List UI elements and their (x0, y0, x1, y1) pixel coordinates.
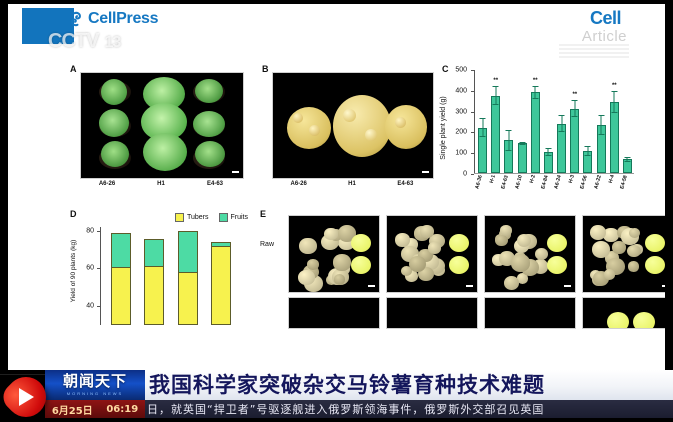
panel-c-significance-marker: ** (612, 83, 617, 89)
panel-e: E Raw (260, 209, 665, 329)
legend-label-fruits: Fruits (231, 214, 249, 221)
panel-c-tick: 200 (471, 132, 474, 133)
panel-d-legend: Tubers Fruits (175, 213, 248, 222)
legend-swatch-tubers (175, 213, 184, 222)
date-time-box: 6月25日 06:19 (45, 400, 145, 418)
news-ticker-text: 日，就英国“捍卫者”号驱逐舰进入俄罗斯领海事件，俄罗斯外交部召见英国 (145, 401, 544, 417)
program-logo: 朝闻天下 MORNING NEWS (45, 370, 145, 400)
panel-c-error-bar (587, 146, 588, 156)
panel-a-letter: A (70, 64, 77, 74)
potato-tuber (511, 254, 530, 271)
panel-c-tick-label: 100 (455, 150, 467, 157)
panel-d-tick-label: 80 (86, 227, 94, 234)
potato-tuber (428, 242, 440, 253)
panel-d-y-axis-label: Yield of 90 plants (kg) (70, 229, 77, 313)
program-name: 朝闻天下 (63, 374, 127, 389)
potato-tuber (324, 228, 337, 240)
panel-c-bar-group (595, 70, 608, 173)
panel-c-bar-group: ** (608, 70, 621, 173)
journal-blue-block (22, 8, 74, 44)
panel-d-bar-group (205, 227, 239, 325)
panel-c-error-bar (495, 86, 496, 104)
panel-d-segment-fruits (112, 234, 130, 268)
panel-c-error-bar (522, 142, 523, 145)
panel-c-bar (531, 92, 540, 173)
potato-tuber (409, 256, 426, 272)
panel-d-chart: D Yield of 90 plants (kg) Tubers Fruits … (70, 209, 250, 334)
panel-d-segment-tubers (179, 273, 197, 324)
potato-slice (645, 256, 665, 274)
panel-c-bar-group (516, 70, 529, 173)
panel-e-image-row-second (288, 297, 665, 329)
panel-c-error-bar (508, 130, 509, 150)
cellpress-logo-icon (68, 11, 84, 27)
panel-c-bar-group (555, 70, 568, 173)
scale-bar-icon (564, 285, 571, 287)
panel-c-error-bar (482, 118, 483, 137)
panel-c-tick: 300 (471, 112, 474, 113)
potato-slice (547, 256, 567, 274)
potato-tuber (395, 233, 410, 247)
panel-c-bar-group (476, 70, 489, 173)
panel-c-bar-group (621, 70, 634, 173)
panel-b-captions: A6-26 H1 E4-63 (272, 181, 432, 187)
potato-tuber (628, 261, 639, 271)
panel-c-significance-marker: ** (493, 78, 498, 84)
panel-c-bar (518, 143, 527, 173)
panel-d-y-axis (100, 227, 101, 325)
panel-d-tick: 40 (97, 306, 100, 307)
journal-article-page: CellPress Cell Article A (8, 4, 665, 370)
panel-c-x-labels: A6-36H-1E4-63A6-10H-2E4-84A6-24H-3E4-56A… (476, 176, 634, 190)
panel-c-error-bar (561, 115, 562, 132)
cctv-watermark-sub: 新闻 (52, 52, 78, 62)
article-label: Article (582, 28, 627, 45)
potato-tuber (535, 248, 548, 260)
panel-c-bar-group (542, 70, 555, 173)
panel-c-bars: ******** (476, 70, 634, 173)
panel-c-bar (491, 96, 500, 173)
panel-d-tick: 60 (97, 268, 100, 269)
panel-d-segment-fruits (145, 240, 163, 266)
panel-e-photo (582, 215, 665, 293)
panel-b-letter: B (262, 64, 269, 74)
panel-d-letter: D (70, 209, 77, 219)
potato-slice (449, 234, 469, 252)
panel-e-photo (484, 215, 576, 293)
legend-swatch-fruits (219, 213, 228, 222)
panel-c-tick: 100 (471, 153, 474, 154)
panel-c-significance-marker: ** (533, 78, 538, 84)
panel-c-error-bar (601, 115, 602, 135)
panel-c-chart: C Single plant yield (g) 010020030040050… (442, 64, 665, 207)
potato-tuber (604, 269, 616, 280)
panel-e-row-label: Raw (260, 241, 274, 248)
news-banner: 朝闻天下 MORNING NEWS 6月25日 06:19 我国科学家突破杂交马… (0, 370, 673, 422)
panel-b-caption-2: E4-63 (379, 181, 432, 187)
panel-c-plot-area: 0100200300400500 ******** (474, 70, 634, 174)
potato-tuber (334, 274, 346, 285)
panel-c-bar-group (581, 70, 594, 173)
panel-d-bar-group (104, 227, 138, 325)
panel-c-error-bar (614, 91, 615, 113)
panel-c-bar-group: ** (529, 70, 542, 173)
panel-c-tick-label: 0 (463, 171, 467, 178)
panel-d-stacked-bar (178, 231, 198, 325)
potato-slice (449, 256, 469, 274)
potato-tuber (420, 225, 434, 238)
panel-c-letter: C (442, 64, 449, 74)
potato-tuber (307, 259, 319, 270)
panel-c-error-bar (627, 157, 628, 162)
legend-item-tubers: Tubers (175, 213, 209, 222)
potato-tuber (504, 276, 519, 290)
potato-tuber (298, 270, 314, 285)
panel-a-caption-2: E4-63 (188, 181, 242, 187)
panel-e-photo-lower (288, 297, 380, 329)
article-placeholder-lines (559, 44, 629, 60)
scale-bar-icon (422, 171, 429, 173)
panel-d-tick: 80 (97, 231, 100, 232)
panel-c-error-bar (548, 148, 549, 155)
panel-d-stacked-bar (211, 242, 231, 325)
play-button[interactable] (6, 377, 46, 417)
panel-c-tick: 500 (471, 70, 474, 71)
panel-c-tick: 400 (471, 91, 474, 92)
panel-e-photo (288, 215, 380, 293)
scale-bar-icon (368, 285, 375, 287)
headline-bar: 我国科学家突破杂交马铃薯育种技术难题 (145, 370, 673, 400)
panel-c-x-label: E4-58 (619, 175, 635, 192)
potato-slice (547, 234, 567, 252)
potato-tuber (627, 245, 641, 258)
legend-item-fruits: Fruits (219, 213, 249, 222)
news-ticker: 日，就英国“捍卫者”号驱逐舰进入俄罗斯领海事件，俄罗斯外交部召见英国 (145, 400, 673, 418)
potato-tuber (495, 235, 507, 246)
panel-a-caption-1: H1 (134, 181, 188, 187)
broadcast-time: 06:19 (106, 404, 138, 415)
panel-d-stacked-bar (144, 239, 164, 325)
panel-c-bar (570, 109, 579, 173)
headline-text: 我国科学家突破杂交马铃薯育种技术难题 (145, 375, 545, 396)
panel-e-letter: E (260, 209, 266, 219)
play-triangle-icon (19, 388, 34, 406)
panel-e-photo-lower (582, 297, 665, 329)
panel-d-segment-tubers (112, 268, 130, 324)
cell-journal-logo: Cell (590, 8, 621, 29)
potato-slice (351, 234, 371, 252)
panel-a-caption-0: A6-26 (80, 181, 134, 187)
potato-slice (607, 312, 629, 329)
panel-b-caption-1: H1 (325, 181, 378, 187)
panel-c-y-axis-label: Single plant yield (g) (440, 80, 447, 176)
panel-d-bar-group (171, 227, 205, 325)
panel-d-tick-label: 60 (86, 265, 94, 272)
panel-c-significance-marker: ** (572, 92, 577, 98)
potato-slice (351, 256, 371, 274)
panel-c-bar-group (502, 70, 515, 173)
potato-tuber (299, 238, 316, 254)
panel-d-plot-area: 406080 (100, 227, 240, 325)
panel-a-captions: A6-26 H1 E4-63 (80, 181, 242, 187)
panel-e-image-row-raw (288, 215, 665, 293)
potato-tuber (590, 225, 606, 240)
panel-e-photo (386, 215, 478, 293)
panel-c-error-bar (535, 86, 536, 99)
panel-b-photo (272, 72, 434, 179)
program-name-en: MORNING NEWS (67, 391, 123, 396)
panel-d-stacked-bar (111, 233, 131, 325)
panel-c-tick-label: 500 (455, 67, 467, 74)
cellpress-logo: CellPress (68, 10, 158, 28)
panel-c-bar-group: ** (568, 70, 581, 173)
panel-e-photo-lower (386, 297, 478, 329)
potato-slice (633, 312, 655, 329)
video-player-screen: CellPress Cell Article A (0, 0, 673, 422)
panel-c-tick: 0 (471, 174, 474, 175)
panel-d-segment-tubers (145, 267, 163, 324)
scale-bar-icon (662, 285, 665, 287)
panel-c-bar-group: ** (489, 70, 502, 173)
panel-d-segment-fruits (179, 232, 197, 274)
panel-c-error-bar (574, 100, 575, 117)
potato-tuber (629, 228, 641, 239)
panel-c-tick-label: 300 (455, 108, 467, 115)
panel-e-photo-lower (484, 297, 576, 329)
panel-c-y-axis (474, 70, 475, 174)
potato-tuber (333, 254, 351, 270)
panel-a-photo (80, 72, 244, 179)
panel-c-tick-label: 400 (455, 87, 467, 94)
broadcast-date: 6月25日 (52, 402, 93, 417)
panel-b-caption-0: A6-26 (272, 181, 325, 187)
potato-tuber (500, 225, 512, 236)
panel-d-tick-label: 40 (86, 303, 94, 310)
panel-d-segment-tubers (212, 247, 230, 324)
scale-bar-icon (232, 171, 239, 173)
panel-d-bar-group (138, 227, 172, 325)
panel-c-tick-label: 200 (455, 129, 467, 136)
panel-d-bars (104, 227, 238, 325)
potato-slice (645, 234, 665, 252)
scale-bar-icon (466, 285, 473, 287)
legend-label-tubers: Tubers (187, 214, 209, 221)
cellpress-wordmark: CellPress (88, 10, 158, 28)
